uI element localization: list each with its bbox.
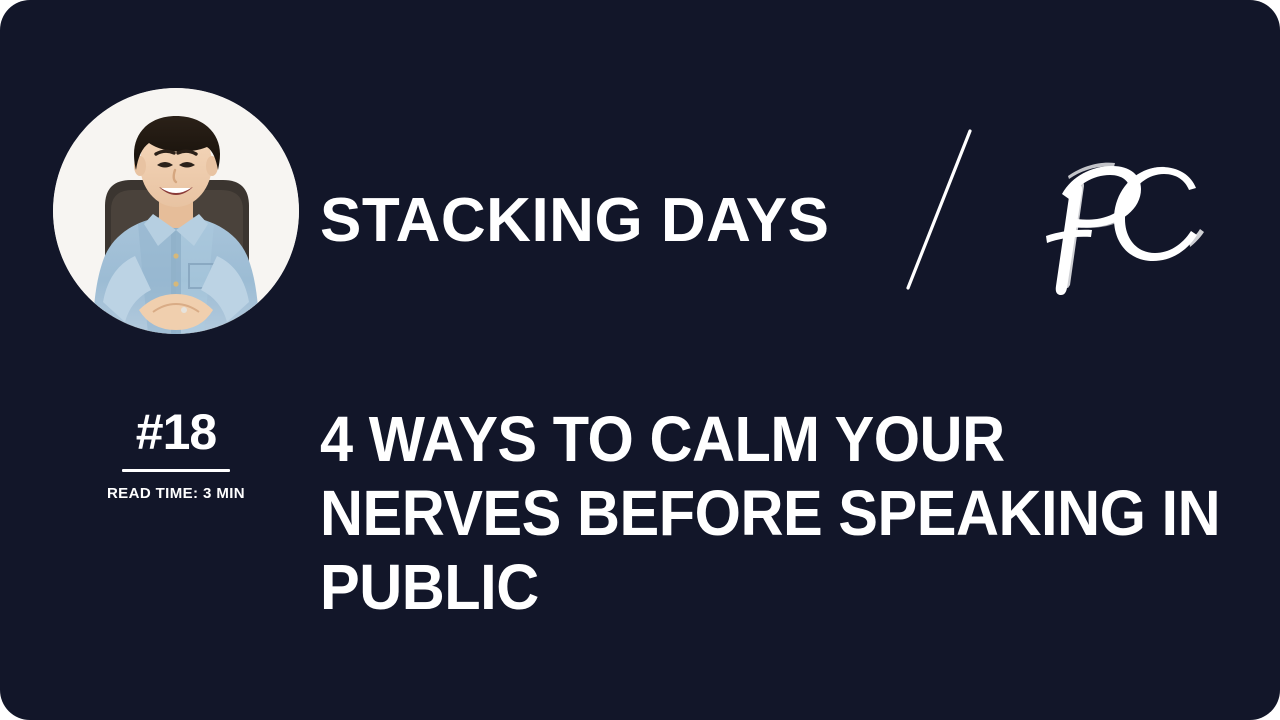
avatar-portrait-photo <box>53 88 299 334</box>
read-time-label: READ TIME: 3 MIN <box>60 485 292 502</box>
issue-number: #18 <box>60 404 292 460</box>
meta-divider-rule <box>122 469 230 472</box>
issue-meta: #18 READ TIME: 3 MIN <box>60 404 292 502</box>
pc-brush-script-monogram <box>1028 150 1213 300</box>
slash-divider-icon <box>895 125 985 295</box>
headline: 4 WAYS TO CALM YOUR NERVES BEFORE SPEAKI… <box>320 402 1157 624</box>
newsletter-card: STACKING DAYS <box>0 0 1280 720</box>
headline-line: PUBLIC <box>320 550 1157 624</box>
brand-title: STACKING DAYS <box>320 183 829 259</box>
headline-line: NERVES BEFORE SPEAKING IN <box>320 476 1157 550</box>
avatar <box>53 88 299 334</box>
headline-line: 4 WAYS TO CALM YOUR <box>320 402 1157 476</box>
